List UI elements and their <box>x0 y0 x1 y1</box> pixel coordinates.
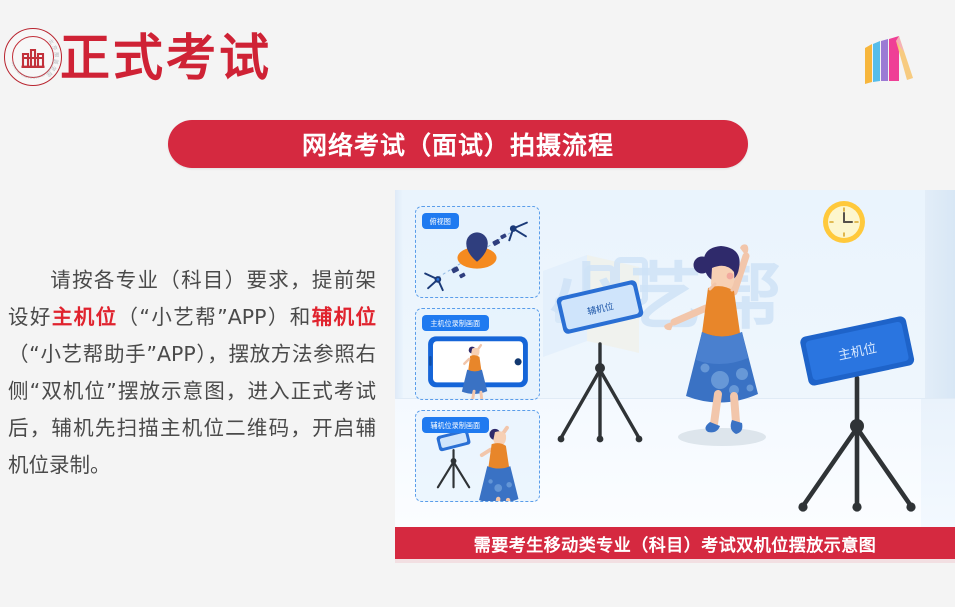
main-camera-preview-tab: 主机位录制画面 <box>422 315 489 331</box>
overhead-view-tab-label: 俯视图 <box>430 217 451 226</box>
books-icon <box>855 32 925 88</box>
figure-caption: 需要考生移动类专业（科目）考试双机位摆放示意图 <box>395 527 955 559</box>
paragraph-line-2a: 设好 <box>8 305 52 329</box>
banner-text: 网络考试（面试）拍摄流程 <box>302 126 614 162</box>
overhead-view-tab: 俯视图 <box>422 213 459 229</box>
aux-camera-preview-card: 辅机位录制画面 <box>415 410 540 502</box>
figure-caption-text: 需要考生移动类专业（科目）考试双机位摆放示意图 <box>474 531 877 556</box>
aux-camera-preview-tab: 辅机位录制画面 <box>422 417 489 433</box>
caption-underline <box>395 559 955 563</box>
main-camera-tripod: 主机位 <box>785 298 925 520</box>
seal-emblem-icon <box>21 46 45 68</box>
paragraph-line-3: （“小艺帮助手”APP），摆放方法 <box>8 342 313 366</box>
highlight-aux-camera: 辅机位 <box>312 305 376 329</box>
main-camera-preview-tab-label: 主机位录制画面 <box>430 319 480 328</box>
university-seal-logo: 北京服装学院 BEIJING INSTITUTE OF FASHION TECH… <box>4 28 62 86</box>
page-header: 北京服装学院 BEIJING INSTITUTE OF FASHION TECH… <box>0 0 955 110</box>
overhead-view-card: 俯视图 <box>415 206 540 298</box>
wall-clock-icon <box>820 198 868 246</box>
highlight-main-camera: 主机位 <box>52 305 118 329</box>
page-title: 正式考试 <box>60 30 272 86</box>
instruction-paragraph: 请按各专业（科目）要求，提前架设好主机位（“小艺帮”APP）和辅机位（“小艺帮助… <box>8 262 376 484</box>
paragraph-line-1: 请按各专业（科目）要求，提前架 <box>49 268 376 292</box>
slide-page: 北京服装学院 BEIJING INSTITUTE OF FASHION TECH… <box>0 0 955 607</box>
aux-camera-tripod: 辅机位 <box>545 252 655 452</box>
section-banner: 网络考试（面试）拍摄流程 <box>168 120 748 168</box>
main-camera-preview-card: 主机位录制画面 <box>415 308 540 400</box>
paragraph-line-2b: （“小艺帮”APP）和 <box>118 305 312 329</box>
illustration-panel: 小艺帮 <box>395 190 955 527</box>
room-floor-corner <box>921 399 955 527</box>
dancer-figure <box>650 232 795 447</box>
aux-camera-preview-tab-label: 辅机位录制画面 <box>430 421 480 430</box>
